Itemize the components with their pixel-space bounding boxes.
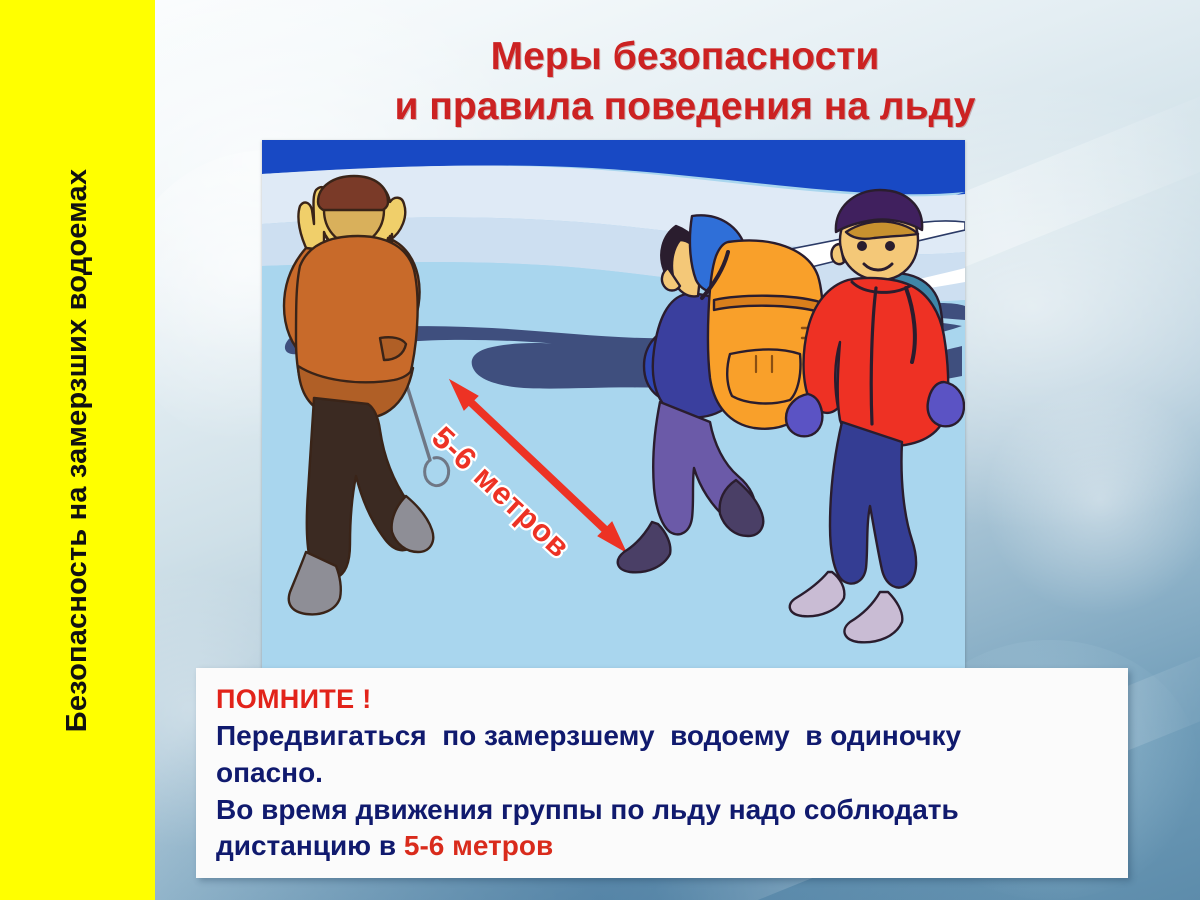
child2-mitten-right [928, 382, 964, 426]
note-line-3: Во время движения группы по льду надо со… [216, 792, 1108, 829]
page-title-line-1: Меры безопасности [180, 32, 1190, 82]
ice-safety-illustration: 5-6 метров [262, 140, 965, 668]
slide-root: Безопасность на замерзших водоемах Меры … [0, 0, 1200, 900]
note-heading: ПОМНИТЕ ! [216, 682, 1108, 718]
child2-eye-right [885, 241, 895, 251]
child2-eye-left [857, 241, 867, 251]
background-bokeh-2 [980, 380, 1200, 620]
sidebar-banner: Безопасность на замерзших водоемах [0, 0, 155, 900]
note-line-2: опасно. [216, 755, 1108, 792]
illustration-canvas: 5-6 метров [262, 140, 965, 668]
child1-backpack-pocket [727, 350, 800, 404]
page-title-line-2: и правила поведения на льду [180, 82, 1190, 132]
note-line-4-highlight: 5-6 метров [404, 830, 553, 861]
note-line-1: Передвигаться по замерзшему водоему в од… [216, 718, 1108, 755]
note-line-4-prefix: дистанцию в [216, 830, 404, 861]
page-title: Меры безопасности и правила поведения на… [180, 32, 1190, 132]
note-line-4: дистанцию в 5-6 метров [216, 828, 1108, 865]
sidebar-banner-label: Безопасность на замерзших водоемах [63, 168, 92, 731]
advisory-note-box: ПОМНИТЕ ! Передвигаться по замерзшему во… [196, 668, 1128, 878]
